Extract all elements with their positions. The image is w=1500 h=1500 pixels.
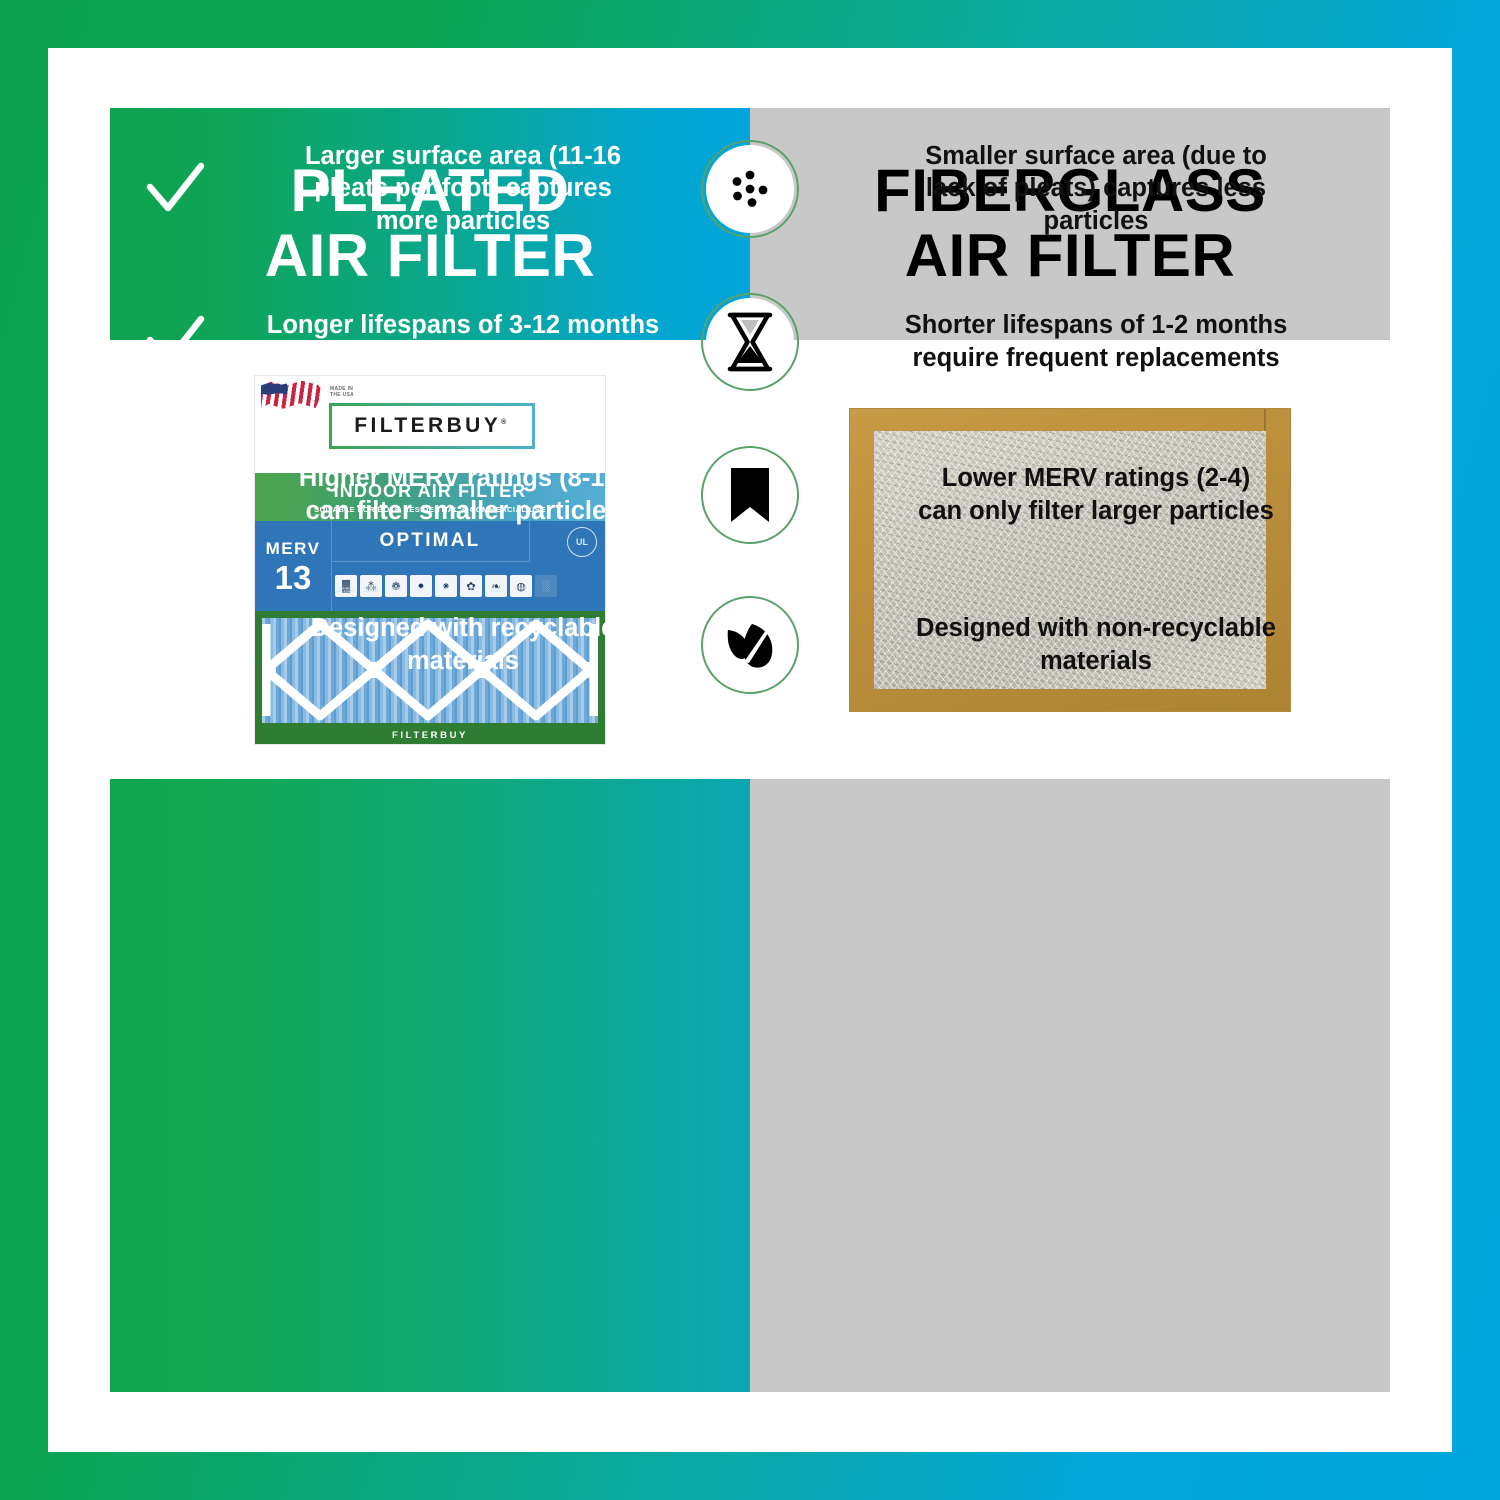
comparison-panel: [110, 779, 1390, 1392]
medallion-bookmark-icon: [701, 446, 799, 544]
pleated-footer-brand: FILTERBUY: [255, 730, 605, 741]
pleated-benefit-text: Larger surface area (11-16 pleats per fo…: [222, 140, 704, 238]
comparison-row: Higher MERV ratings (8-13) can filter sm…: [110, 418, 1390, 571]
pleated-benefit-4: Designed with recyclable materials: [110, 568, 750, 721]
pleated-benefit-text: Designed with recyclable materials: [222, 612, 704, 677]
fiberglass-drawback-text: Designed with non-recyclable materials: [916, 612, 1276, 677]
infographic-canvas: PLEATED AIR FILTER FIBERGLASS AIR FILTER…: [110, 108, 1390, 1392]
fiberglass-drawback-text: Shorter lifespans of 1-2 months require …: [905, 309, 1288, 374]
comparison-row: Longer lifespans of 3-12 months result i…: [110, 265, 1390, 418]
check-icon: [144, 158, 206, 220]
outer-gradient-frame: PLEATED AIR FILTER FIBERGLASS AIR FILTER…: [0, 0, 1500, 1500]
comparison-rows: Larger surface area (11-16 pleats per fo…: [110, 108, 1390, 721]
comparison-row: Designed with recyclable materialsDesign…: [110, 568, 1390, 721]
particles-icon: [706, 145, 794, 233]
medallion-hourglass-icon: [701, 293, 799, 391]
leaf-icon: [706, 601, 794, 689]
medallion-leaf-icon: [701, 596, 799, 694]
fiberglass-drawback-3: Lower MERV ratings (2-4) can only filter…: [750, 418, 1390, 571]
check-icon: [144, 464, 206, 526]
fiberglass-drawback-text: Smaller surface area (due to lack of ple…: [925, 140, 1267, 238]
fiberglass-drawback-4: Designed with non-recyclable materials: [750, 568, 1390, 721]
bookmark-icon: [706, 451, 794, 539]
medallion-particles-icon: [701, 140, 799, 238]
comparison-row: Larger surface area (11-16 pleats per fo…: [110, 112, 1390, 265]
fiberglass-drawback-1: Smaller surface area (due to lack of ple…: [750, 112, 1390, 265]
pleated-benefit-text: Longer lifespans of 3-12 months result i…: [222, 309, 704, 374]
comparison-left-background: [110, 779, 750, 1392]
fiberglass-drawback-text: Lower MERV ratings (2-4) can only filter…: [918, 462, 1274, 527]
pleated-benefit-text: Higher MERV ratings (8-13) can filter sm…: [222, 462, 704, 527]
fiberglass-drawback-2: Shorter lifespans of 1-2 months require …: [750, 265, 1390, 418]
pleated-benefit-3: Higher MERV ratings (8-13) can filter sm…: [110, 418, 750, 571]
check-icon: [144, 311, 206, 373]
pleated-benefit-1: Larger surface area (11-16 pleats per fo…: [110, 112, 750, 265]
check-icon: [144, 614, 206, 676]
hourglass-icon: [706, 298, 794, 386]
pleated-benefit-2: Longer lifespans of 3-12 months result i…: [110, 265, 750, 418]
comparison-right-background: [750, 779, 1390, 1392]
